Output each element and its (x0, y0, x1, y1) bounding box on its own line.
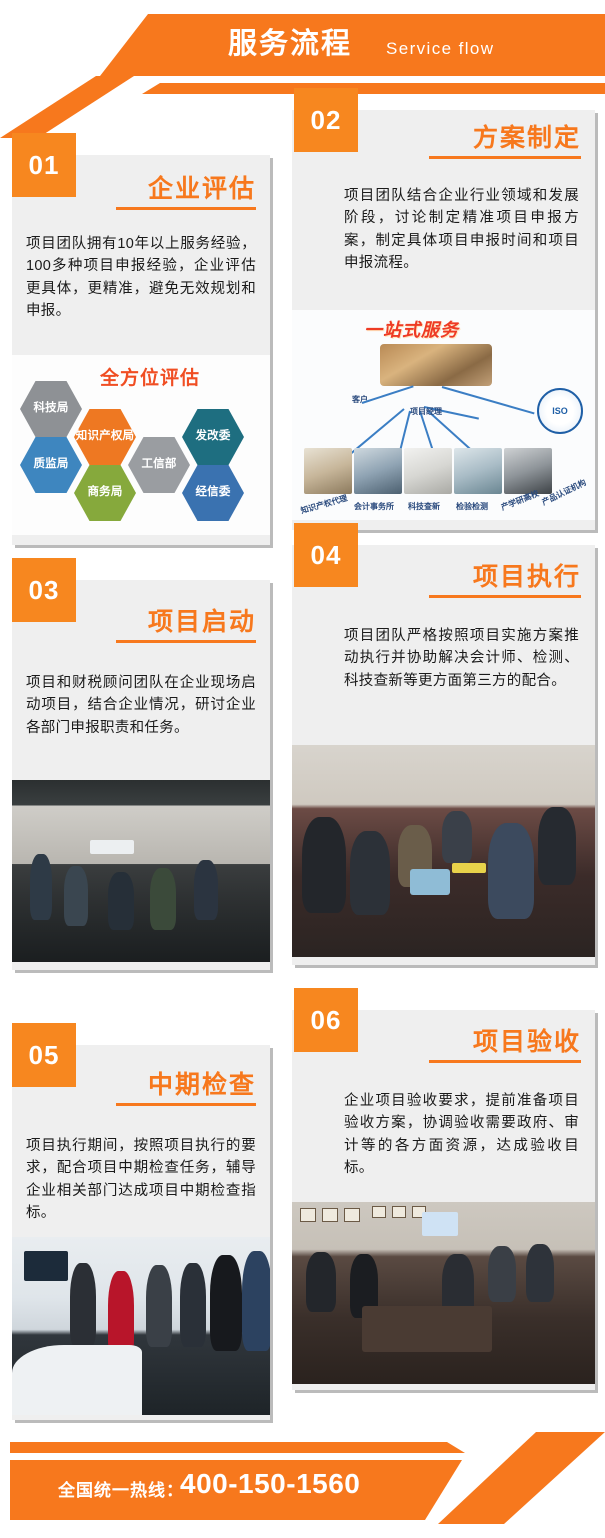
title-underline (116, 1103, 256, 1106)
hex-node-gongxin: 工信部 (128, 437, 190, 493)
arrow-1 (362, 385, 414, 404)
process-step-card-03[interactable]: 03 项目启动 项目和财税顾问团队在企业现场启动项目，结合企业情况，研讨企业各部… (12, 580, 270, 970)
page-footer: 全国统一热线： 400-150-1560 (0, 1432, 605, 1538)
thumb-search (404, 448, 452, 494)
title-underline (116, 640, 256, 643)
step-media-photo (292, 1202, 595, 1384)
branch-label-account: 会计事务所 (354, 501, 394, 512)
step-number-badge: 02 (294, 88, 358, 152)
arrow-7 (442, 386, 535, 414)
hex-node-fagai: 发改委 (182, 409, 244, 465)
hex-node-zhishichanquan: 知识产权局 (74, 409, 136, 465)
step-title: 企业评估 (148, 169, 256, 205)
step-description: 项目和财税顾问团队在企业现场启动项目，结合企业情况，研讨企业各部门申报职责和任务… (26, 672, 256, 739)
step-description: 项目团队拥有10年以上服务经验，100多种项目申报经验，企业评估更具体，更精准，… (26, 233, 256, 323)
thumb-ip (304, 448, 352, 494)
header-diagonal-tail (0, 76, 180, 138)
thumb-test (454, 448, 502, 494)
title-underline (429, 1060, 581, 1063)
label-khu: 客户 (352, 394, 368, 405)
one-stop-heading: 一站式服务 (364, 316, 459, 342)
step-media-hex-diagram: 全方位评估 科技局 知识产权局 质监局 商务局 工信部 发改委 经信委 (12, 355, 270, 535)
step-number-badge: 01 (12, 133, 76, 197)
step-media-photo (12, 780, 270, 962)
certification-seal-icon: ISO (537, 388, 583, 434)
step-title: 项目启动 (148, 602, 256, 638)
branch-label-test: 检验检测 (456, 501, 488, 512)
step-description: 项目团队结合企业行业领域和发展阶段，讨论制定精准项目申报方案，制定具体项目申报时… (344, 185, 579, 275)
process-step-card-05[interactable]: 05 中期检查 项目执行期间，按照项目执行的要求，配合项目中期检查任务，辅导企业… (12, 1045, 270, 1420)
step-title: 中期检查 (148, 1065, 256, 1101)
step-number-badge: 06 (294, 988, 358, 1052)
process-step-card-06[interactable]: 06 项目验收 企业项目验收要求，提前准备项目验收方案，协调验收需要政府、审计等… (292, 1010, 595, 1390)
label-pm: 项目经理 (410, 406, 442, 417)
step-title: 项目执行 (473, 557, 581, 593)
hex-diagram-heading: 全方位评估 (100, 363, 200, 390)
step-number-badge: 03 (12, 558, 76, 622)
title-underline (429, 156, 581, 159)
branch-label-ip: 知识产权代理 (299, 493, 348, 517)
step-description: 企业项目验收要求，提前准备项目验收方案，协调验收需要政府、审计等的各方面资源，达… (344, 1090, 579, 1180)
step-media-photo (12, 1237, 270, 1415)
hex-diagram: 全方位评估 科技局 知识产权局 质监局 商务局 工信部 发改委 经信委 (12, 355, 270, 535)
process-step-card-01[interactable]: 01 企业评估 项目团队拥有10年以上服务经验，100多种项目申报经验，企业评估… (12, 155, 270, 545)
thumb-research (504, 448, 552, 494)
step-description: 项目团队严格按照项目实施方案推动执行并协助解决会计师、检测、科技查新等更方面第三… (344, 625, 579, 692)
step-title: 方案制定 (473, 118, 581, 154)
step-media-onestop-diagram: 一站式服务 客户 项目经理 ISO 知识产权代理 会计事务所 科技查新 检验检测… (292, 310, 595, 520)
step-number-badge: 04 (294, 523, 358, 587)
title-underline (116, 207, 256, 210)
step-number-badge: 05 (12, 1023, 76, 1087)
step-media-photo (292, 745, 595, 957)
step-title: 项目验收 (473, 1022, 581, 1058)
branch-label-search: 科技查新 (408, 501, 440, 512)
hotline-number[interactable]: 400-150-1560 (180, 1468, 360, 1500)
page-subtitle: Service flow (386, 34, 494, 64)
process-step-card-04[interactable]: 04 项目执行 项目团队严格按照项目实施方案推动执行并协助解决会计师、检测、科技… (292, 545, 595, 965)
step-description: 项目执行期间，按照项目执行的要求，配合项目中期检查任务，辅导企业相关部门达成项目… (26, 1135, 256, 1225)
process-step-card-02[interactable]: 02 方案制定 项目团队结合企业行业领域和发展阶段，讨论制定精准项目申报方案，制… (292, 110, 595, 530)
thumb-account (354, 448, 402, 494)
title-underline (429, 595, 581, 598)
page-title: 服务流程 (228, 22, 352, 66)
hex-node-shangwu: 商务局 (74, 465, 136, 521)
one-stop-center-photo (380, 344, 492, 386)
hex-node-keji: 科技局 (20, 381, 82, 437)
hex-node-zhijian: 质监局 (20, 437, 82, 493)
hex-node-jingxin: 经信委 (182, 465, 244, 521)
hotline-label: 全国统一热线： (58, 1476, 184, 1501)
one-stop-service-diagram: 一站式服务 客户 项目经理 ISO 知识产权代理 会计事务所 科技查新 检验检测… (292, 310, 595, 520)
